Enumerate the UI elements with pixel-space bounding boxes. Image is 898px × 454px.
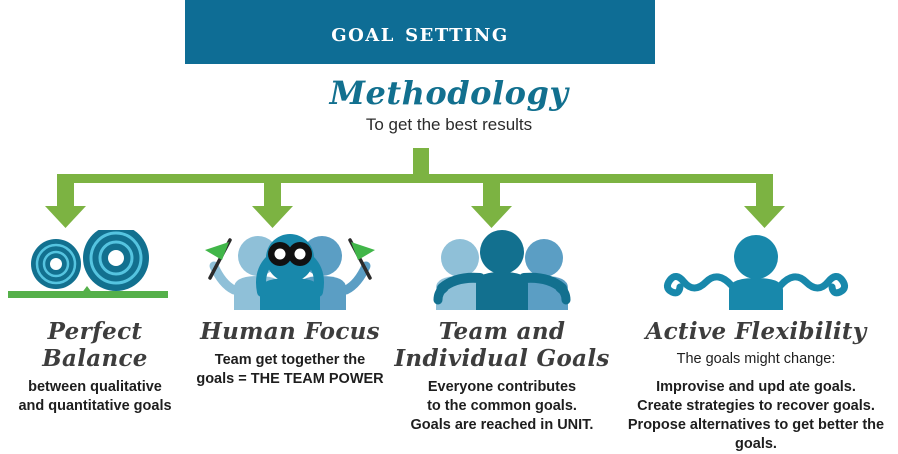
pillar-title: Perfect Balance [0,318,190,372]
pillar-body: between qualitative and quantitative goa… [0,378,190,416]
methodology-section: Methodology To get the best results [0,74,898,136]
balance-targets-icon [8,230,183,310]
pillar-icon-wrap [390,228,614,310]
pillars-row: Perfect Balance between qualitative and … [0,228,898,439]
pillar-body: Everyone contributes to the common goals… [390,378,614,435]
pillar-perfect-balance: Perfect Balance between qualitative and … [0,228,190,416]
pillar-team-individual-goals: Team and Individual Goals Everyone contr… [390,228,614,435]
pillar-lead: The goals might change: [614,350,898,369]
connector-arrows-icon [0,148,898,230]
pillar-title: Human Focus [190,318,390,345]
pillar-human-focus: Human Focus Team get together the goals … [190,228,390,389]
methodology-title: Methodology [0,74,898,112]
pillar-body: Team get together the goals = THE TEAM P… [190,351,390,389]
methodology-subtitle: To get the best results [0,114,898,136]
team-with-flags-icon [200,230,380,310]
pillar-body: Improvise and upd ate goals. Create stra… [614,378,898,454]
page-title: GOAL SETTING [331,18,509,47]
team-embrace-icon [422,230,582,310]
title-banner: GOAL SETTING [185,0,655,64]
pillar-title: Team and Individual Goals [390,318,614,372]
pillar-title: Active Flexibility [614,318,898,345]
pillar-icon-wrap [0,228,190,310]
pillar-icon-wrap [614,228,898,310]
arrow-connector [0,148,898,230]
pillar-icon-wrap [190,228,390,310]
flexible-person-icon [656,230,856,310]
pillar-active-flexibility: Active Flexibility The goals might chang… [614,228,898,454]
